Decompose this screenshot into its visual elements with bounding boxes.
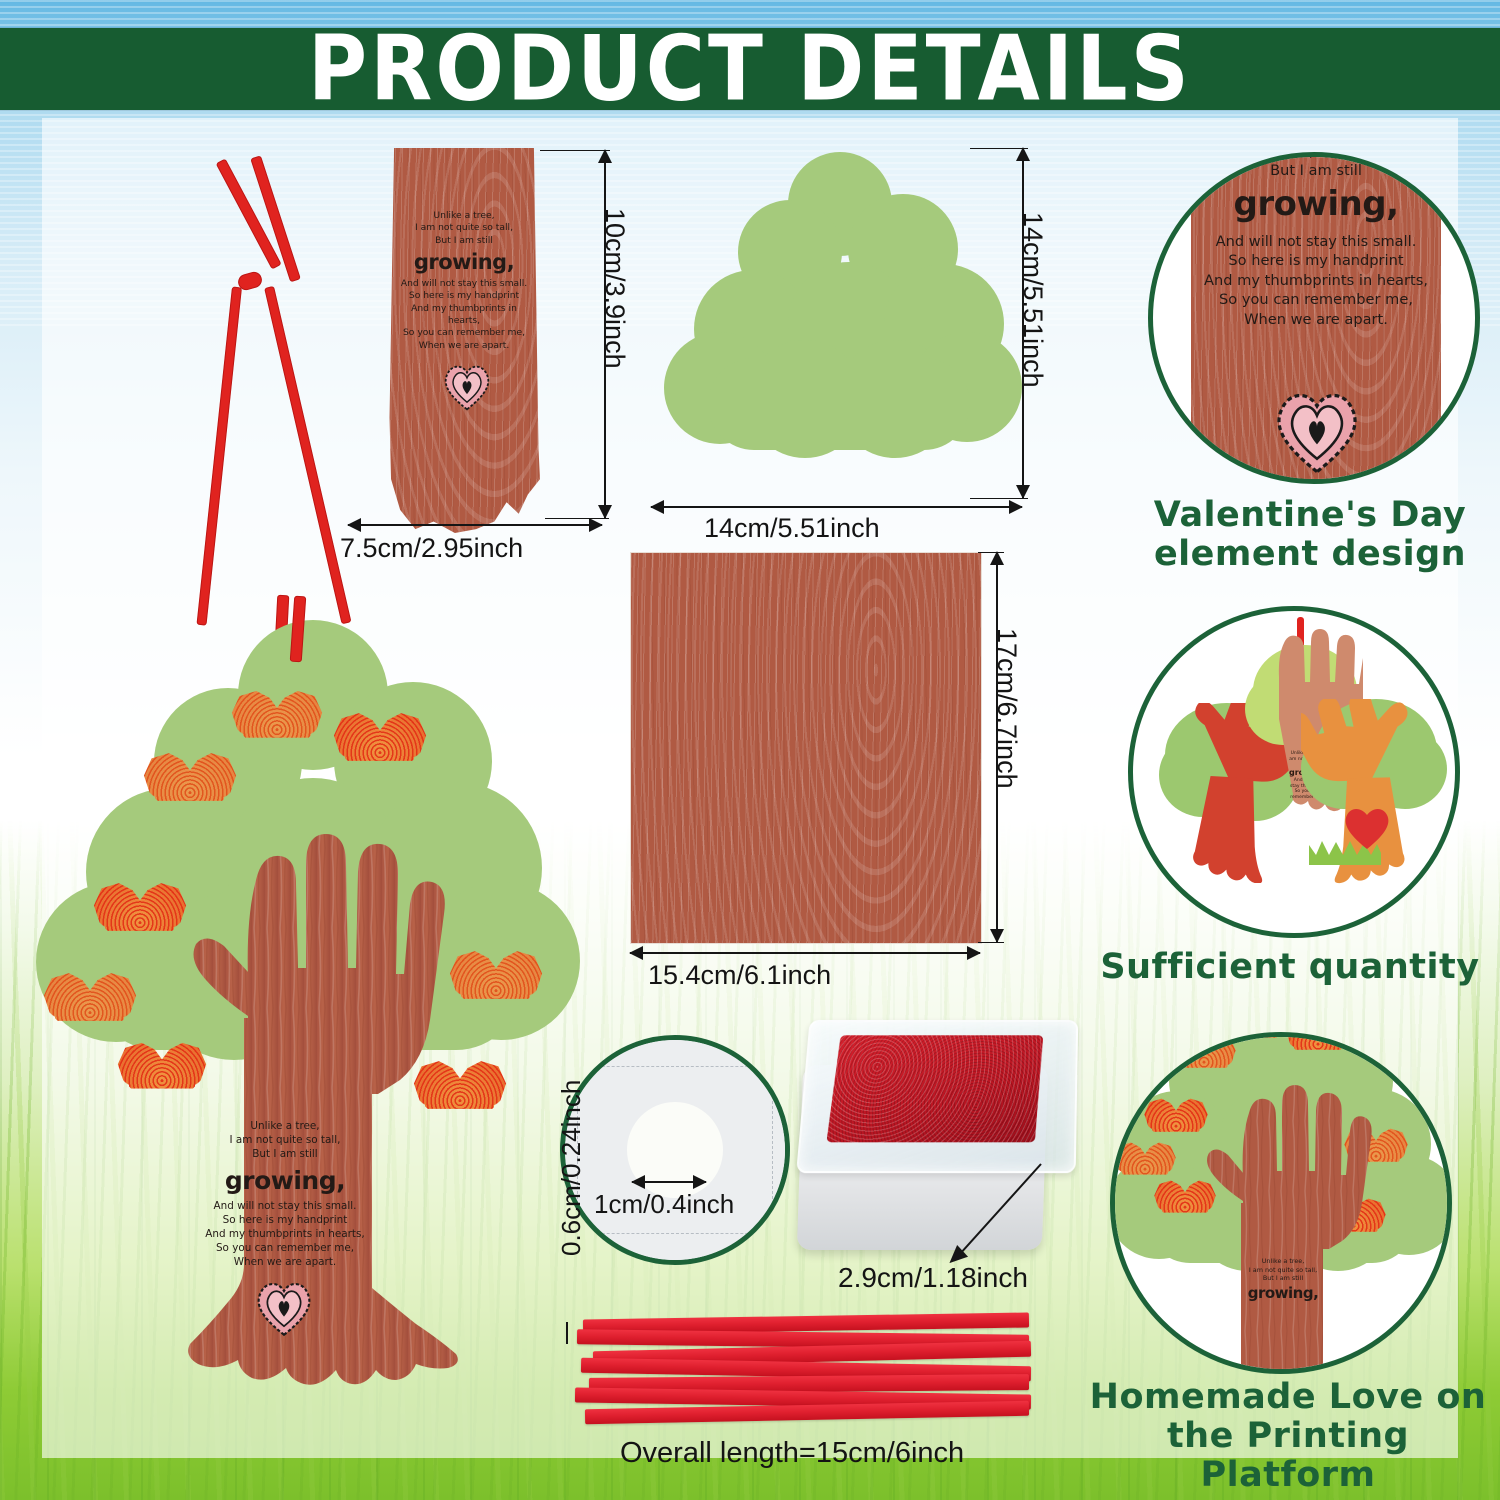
page-title: PRODUCT DETAILS: [308, 24, 1192, 114]
canopy-height-tick-top: [970, 148, 1028, 149]
poem-line-7: So you can remember me,: [403, 327, 525, 338]
feature-label-line-1: Sufficient quantity: [1080, 948, 1500, 987]
canopy-lobe: [708, 358, 970, 450]
poem-line-1: Unlike a tree,: [250, 1120, 319, 1132]
poem-line-7: So you can remember me,: [1219, 291, 1413, 308]
poem-line-3: But I am still: [1270, 162, 1362, 179]
canopy-width-arrow: [651, 506, 1022, 508]
handprint-trunk: [148, 768, 468, 1458]
canopy-sample: [660, 152, 1022, 498]
trunk-height-tick-top: [540, 150, 610, 151]
sheet-width-arrow: [630, 952, 980, 954]
poem-line-3: But I am still: [252, 1148, 317, 1160]
trunk-bookmark-sample: Unlike a tree, I am not quite so tall, B…: [388, 148, 540, 533]
sheet-height-tick-bottom: [978, 942, 1004, 943]
sheet-height-tick-top: [978, 552, 1004, 553]
poem-line-8: When we are apart.: [234, 1256, 336, 1268]
feature-label-line-2: element design: [1112, 535, 1500, 574]
poem-emphasis: growing,: [396, 248, 532, 276]
poem-line-6: And my thumbprints in hearts,: [205, 1228, 364, 1240]
trunk-poem-text: Unlike a tree, I am not quite so tall, B…: [396, 210, 532, 352]
ribbon-strip: [585, 1401, 1029, 1425]
poem-line-4: And will not stay this small.: [1216, 233, 1417, 250]
feature-label-valentine: Valentine's Day element design: [1112, 496, 1500, 574]
poem-emphasis: growing,: [1195, 182, 1437, 228]
doodle-heart-icon: [1269, 383, 1365, 477]
poem-line-4: And will not stay this small.: [401, 278, 527, 289]
hanging-hole-circle: [560, 1035, 790, 1265]
tree-trunk-poem: Unlike a tree, I am not quite so tall, B…: [185, 1120, 385, 1270]
poem-line-7: So you can remember me,: [216, 1242, 354, 1254]
poem-line-5: So here is my handprint: [1228, 252, 1403, 269]
feature-circle-quantity: Unlike a tree, I am not quite so tall, g…: [1128, 606, 1460, 938]
ink-pad-red-ink: [826, 1035, 1043, 1142]
valentine-poem-text: I am not quite so tall, But I am still g…: [1195, 152, 1437, 329]
feature-label-quantity: Sufficient quantity: [1080, 948, 1500, 987]
printing-tree-crop: Unlike a tree, I am not quite so tall, B…: [1110, 1032, 1452, 1374]
valentine-trunk-crop: I am not quite so tall, But I am still g…: [1191, 152, 1441, 484]
feature-circle-valentine: I am not quite so tall, But I am still g…: [1148, 152, 1480, 484]
doodle-heart-icon: [252, 1276, 316, 1338]
assembled-tree: Unlike a tree, I am not quite so tall, B…: [30, 608, 590, 1488]
poem-line-5: So here is my handprint: [409, 290, 519, 301]
poem-emphasis: growing,: [1233, 1283, 1333, 1303]
ribbon-bundle: [575, 1312, 1035, 1432]
poem-line-3: But I am still: [435, 235, 493, 246]
sheet-width-label: 15.4cm/6.1inch: [648, 960, 831, 991]
wood-sheet-sample: [630, 552, 982, 944]
poem-line-4: And will not stay this small.: [214, 1200, 357, 1212]
poem-line-6: And my thumbprints in hearts,: [1204, 272, 1428, 289]
feature-circle-printing: Unlike a tree, I am not quite so tall, B…: [1110, 1032, 1452, 1374]
handprint-trunk-svg: [148, 768, 468, 1458]
hole-diameter-arrow: [632, 1181, 706, 1183]
ribbon-length-label: Overall length=15cm/6inch: [620, 1437, 964, 1470]
sheet-height-label: 17cm/6.7inch: [991, 628, 1022, 789]
trunk-height-label: 10cm/3.9inch: [599, 208, 630, 369]
feature-label-line-1: Homemade Love on: [1078, 1378, 1498, 1417]
ink-pad-clear-lid: [796, 1020, 1078, 1173]
inkpad-size-label: 2.9cm/1.18inch: [838, 1262, 1028, 1294]
poem-line-1: Unlike a tree,: [433, 210, 494, 221]
canopy-width-label: 14cm/5.51inch: [704, 513, 880, 544]
ribbon-loop-right: [264, 286, 351, 624]
poem-line-3: But I am still: [1263, 1274, 1303, 1282]
ribbon-width-label: 0.6cm/0.24inch: [556, 1080, 587, 1256]
poem-line-2: I am not quite so tall,: [1249, 1266, 1317, 1274]
thumbprint-heart: [230, 686, 324, 770]
poem-line-8: When we are apart.: [1244, 311, 1388, 328]
feature-label-printing: Homemade Love on the Printing Platform: [1078, 1378, 1498, 1496]
trunk-width-arrow: [348, 524, 602, 526]
feature-label-line-1: Valentine's Day: [1112, 496, 1500, 535]
canopy-height-tick-bottom: [970, 498, 1028, 499]
mini-heart-tag: [1341, 803, 1393, 851]
trunk-width-label: 7.5cm/2.95inch: [340, 533, 523, 564]
poem-line-6: And my thumbprints in hearts,: [411, 303, 517, 326]
feature-label-line-2: the Printing Platform: [1078, 1417, 1498, 1495]
closeup-handprint-trunk: Unlike a tree, I am not quite so tall, B…: [1183, 1051, 1379, 1374]
poem-line-1: Unlike a tree,: [1262, 1257, 1305, 1265]
poem-line-2: I am not quite so tall,: [230, 1134, 341, 1146]
hole-diameter-label: 1cm/0.4inch: [594, 1189, 734, 1220]
poem-line-5: So here is my handprint: [223, 1214, 348, 1226]
closeup-poem-text: Unlike a tree, I am not quite so tall, B…: [1233, 1257, 1333, 1303]
product-details-infographic: PRODUCT DETAILS Unlike a tree, I am not …: [0, 0, 1500, 1500]
ribbon-width-tick: [566, 1322, 568, 1344]
poem-emphasis: growing,: [185, 1164, 385, 1198]
poem-line-8: When we are apart.: [419, 340, 510, 351]
doodle-heart-icon: [440, 360, 494, 412]
mini-tree-orange: [1301, 699, 1447, 889]
poem-line-2: I am not quite so tall,: [415, 222, 513, 233]
header-banner: PRODUCT DETAILS: [0, 28, 1500, 110]
canopy-height-label: 14cm/5.51inch: [1017, 212, 1048, 388]
